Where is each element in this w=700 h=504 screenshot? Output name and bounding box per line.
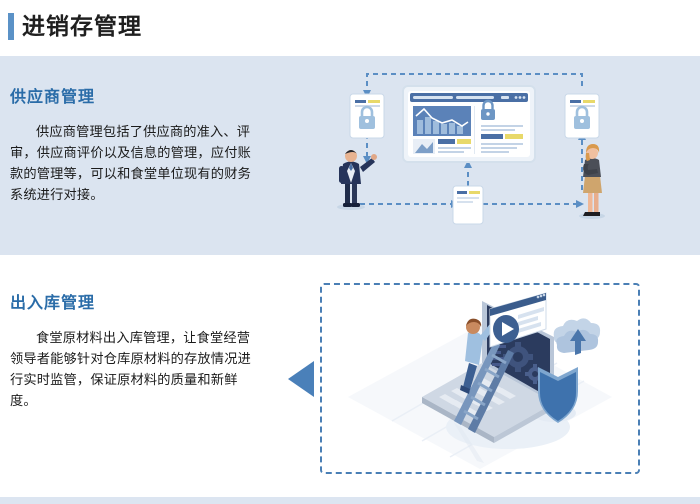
businesswoman-figure — [579, 144, 605, 219]
lock-document-left — [350, 94, 384, 138]
supplier-body-text: 供应商管理包括了供应商的准入、评审，供应商评价以及信息的管理，应付账款的管理等，… — [10, 121, 256, 205]
isometric-laptop-illustration — [322, 285, 638, 472]
play-button-icon — [493, 315, 519, 343]
dashboard-flow-illustration — [320, 64, 630, 244]
inout-body-text: 食堂原材料出入库管理，让食堂经营领导者能够针对仓库原材料的存放情况进行实时监管，… — [10, 327, 256, 411]
supplier-text-block: 供应商管理 供应商管理包括了供应商的准入、评审，供应商评价以及信息的管理，应付账… — [10, 88, 256, 205]
lock-document-right — [565, 94, 599, 138]
section-pointer-triangle — [288, 361, 314, 397]
businessman-figure — [337, 150, 377, 210]
browser-window-icon — [403, 86, 535, 162]
page-header: 进销存管理 — [0, 0, 700, 56]
title-accent-bar — [8, 13, 14, 40]
document-bottom — [453, 186, 483, 224]
supplier-heading: 供应商管理 — [10, 88, 256, 108]
page-title: 进销存管理 — [22, 10, 142, 42]
inout-illustration-frame — [320, 283, 640, 474]
inout-text-block: 出入库管理 食堂原材料出入库管理，让食堂经营领导者能够针对仓库原材料的存放情况进… — [10, 294, 256, 411]
inout-heading: 出入库管理 — [10, 294, 256, 314]
cloud-upload-icon — [554, 318, 600, 355]
footer-strip — [0, 497, 700, 504]
